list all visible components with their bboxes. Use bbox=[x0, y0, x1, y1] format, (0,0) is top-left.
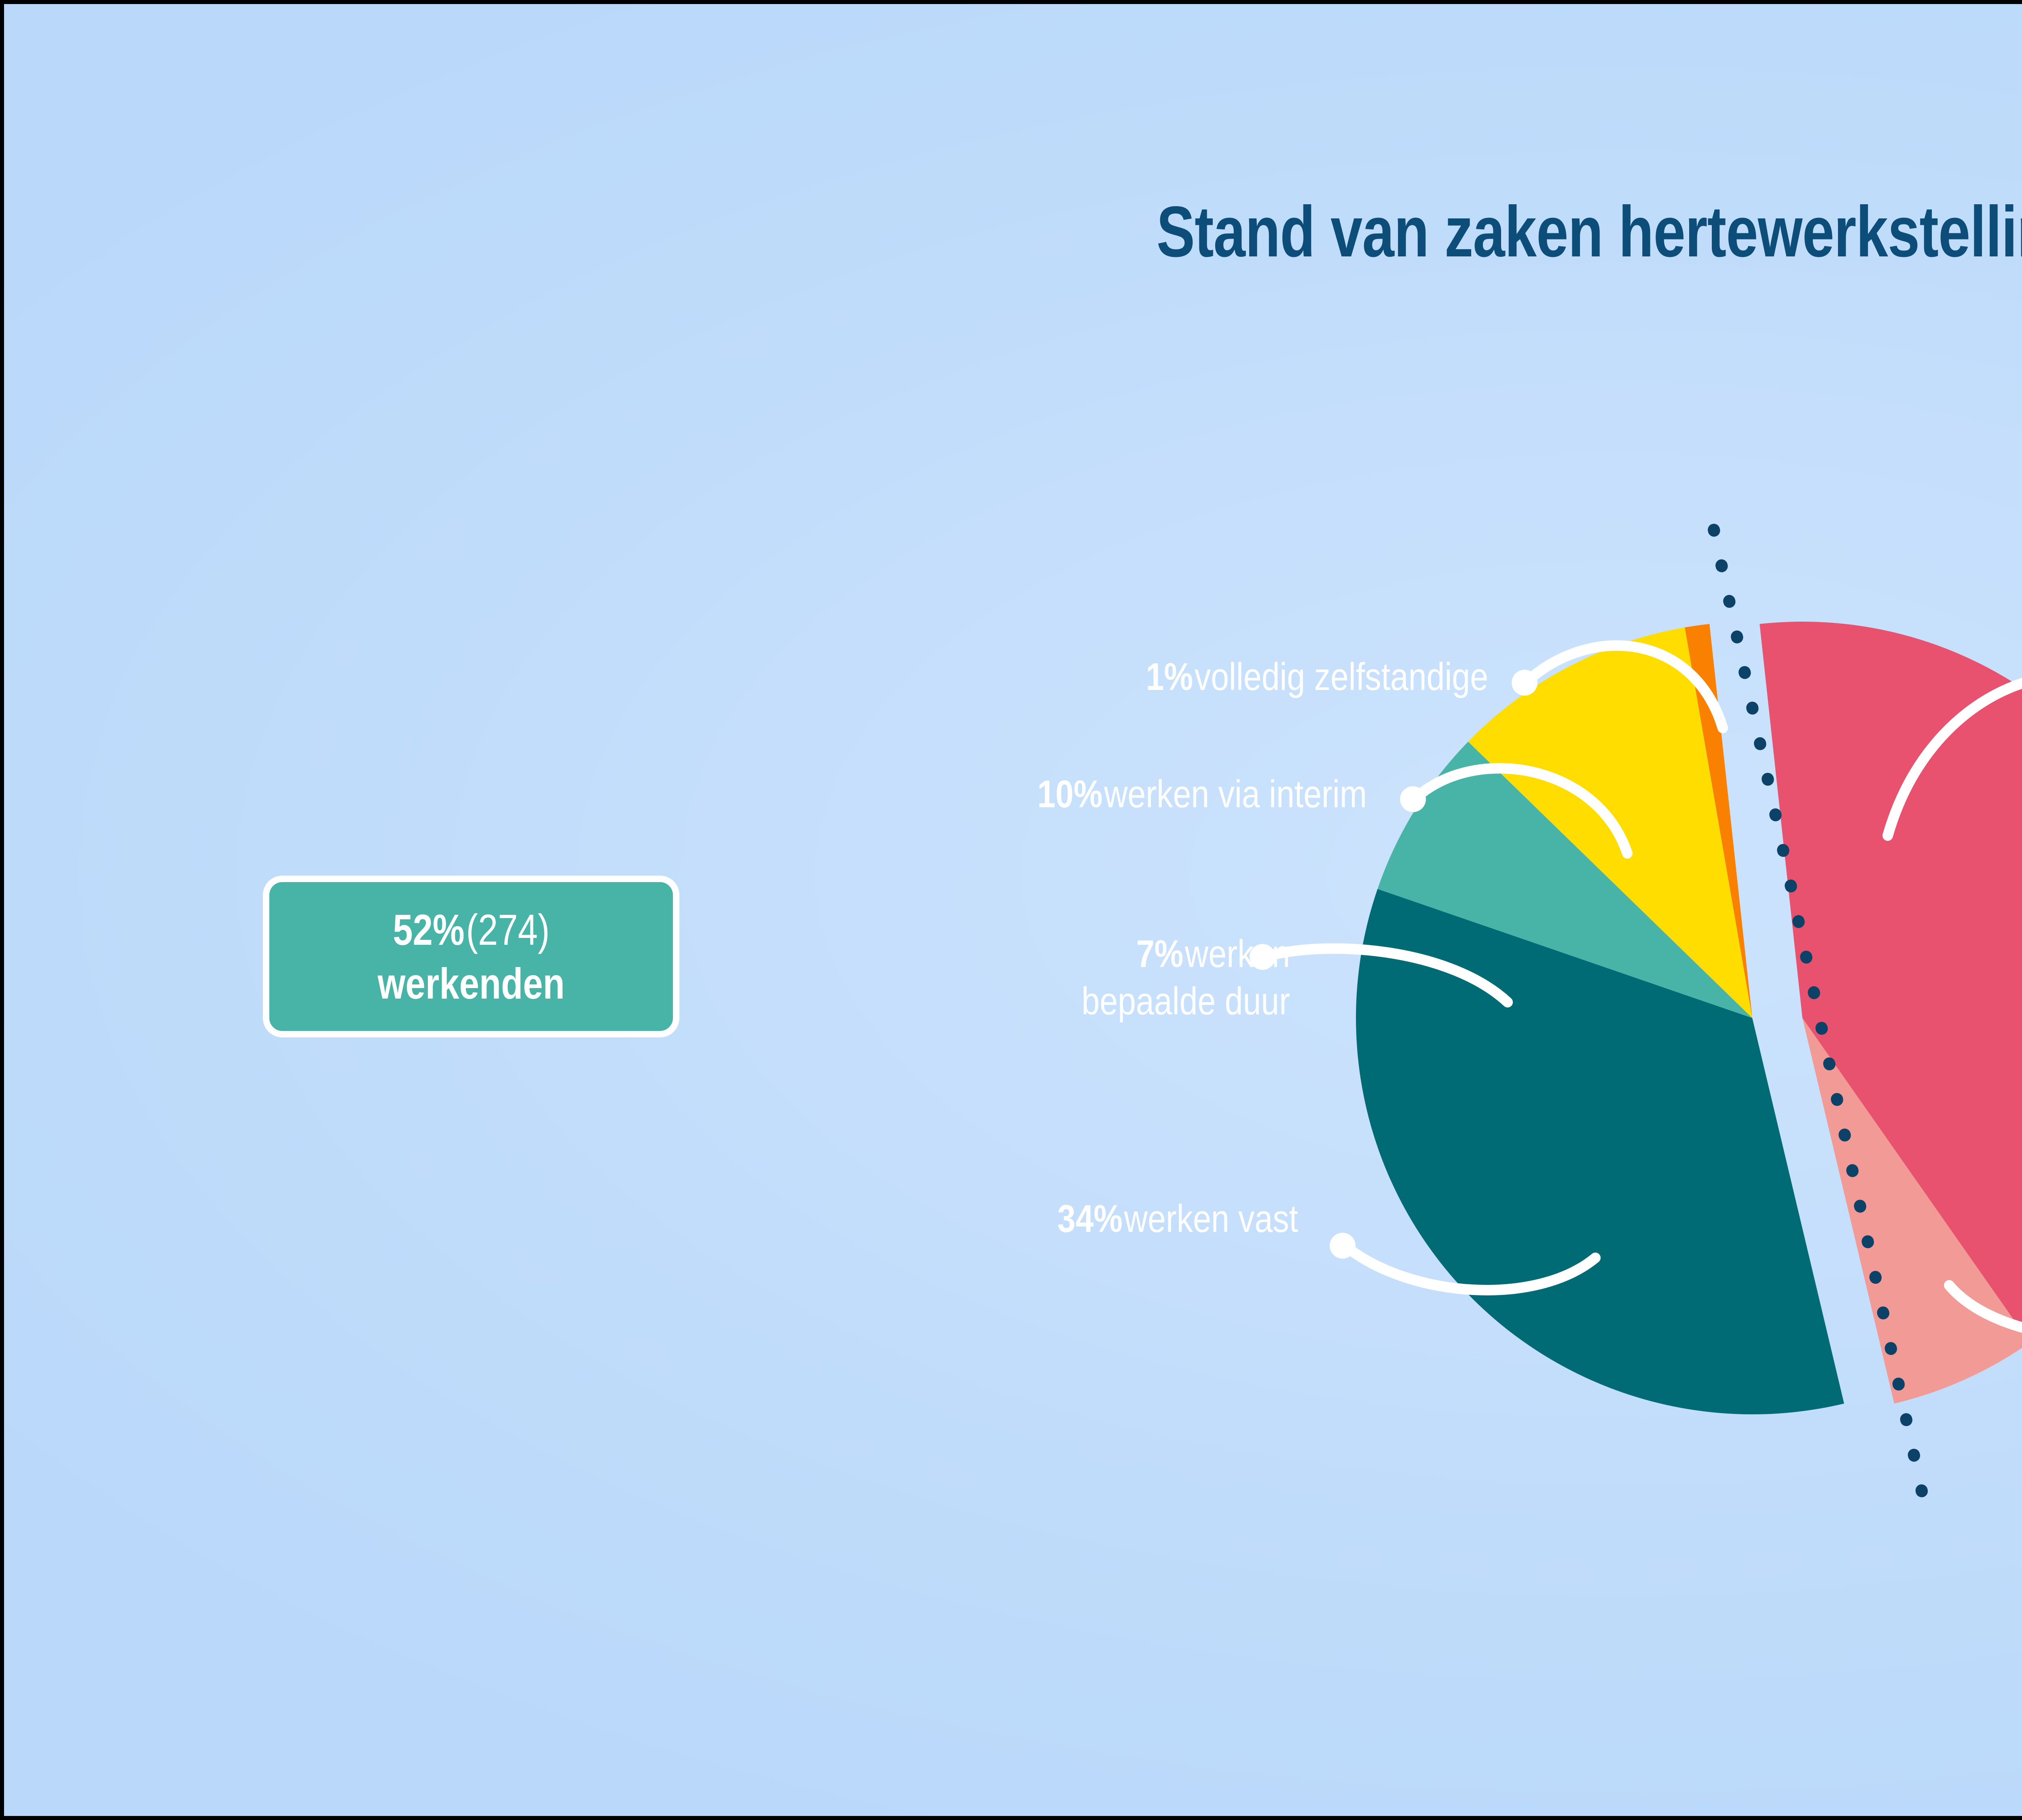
connector-dot-zelfstandige bbox=[1512, 670, 1538, 696]
pie-group-werkenden bbox=[1356, 624, 1844, 1414]
callout-bepaalde-percent: 7% bbox=[1136, 932, 1184, 976]
connector-dot-interim bbox=[1400, 786, 1426, 812]
pie-slice-werken-vast bbox=[1356, 889, 1844, 1414]
callout-werken-bepaalde-duur: 7% werken bepaalde duur bbox=[845, 930, 1290, 1025]
callout-zelfstandige-text: volledig zelfstandige bbox=[1195, 655, 1488, 698]
badge-werkenden-count: (274) bbox=[466, 905, 550, 954]
callout-interim-percent: 10% bbox=[1037, 772, 1102, 816]
callout-zelfstandige-percent: 1% bbox=[1146, 655, 1193, 698]
callout-bepaalde-text-line2: bepaalde duur bbox=[1081, 980, 1290, 1023]
callout-vast-text: werken vast bbox=[1124, 1197, 1298, 1240]
infographic-canvas: Stand van zaken hertewerkstelling bbox=[0, 0, 2022, 1820]
callout-bepaalde-text-line1: werken bbox=[1185, 932, 1290, 976]
callout-volledig-zelfstandige: 1% volledig zelfstandige bbox=[882, 653, 1488, 700]
connector-dot-vast bbox=[1330, 1233, 1356, 1259]
callout-werken-via-interim: 10% werken via interim bbox=[760, 770, 1367, 818]
callout-vast-percent: 34% bbox=[1058, 1197, 1123, 1240]
callout-interim-text: werken via interim bbox=[1104, 772, 1367, 816]
badge-werkenden-label: werkenden bbox=[378, 959, 565, 1008]
callout-werken-vast: 34% werken vast bbox=[853, 1195, 1298, 1242]
badge-werkenden: 52% (274) werkenden bbox=[263, 876, 679, 1037]
badge-werkenden-percent: 52% bbox=[393, 905, 464, 954]
